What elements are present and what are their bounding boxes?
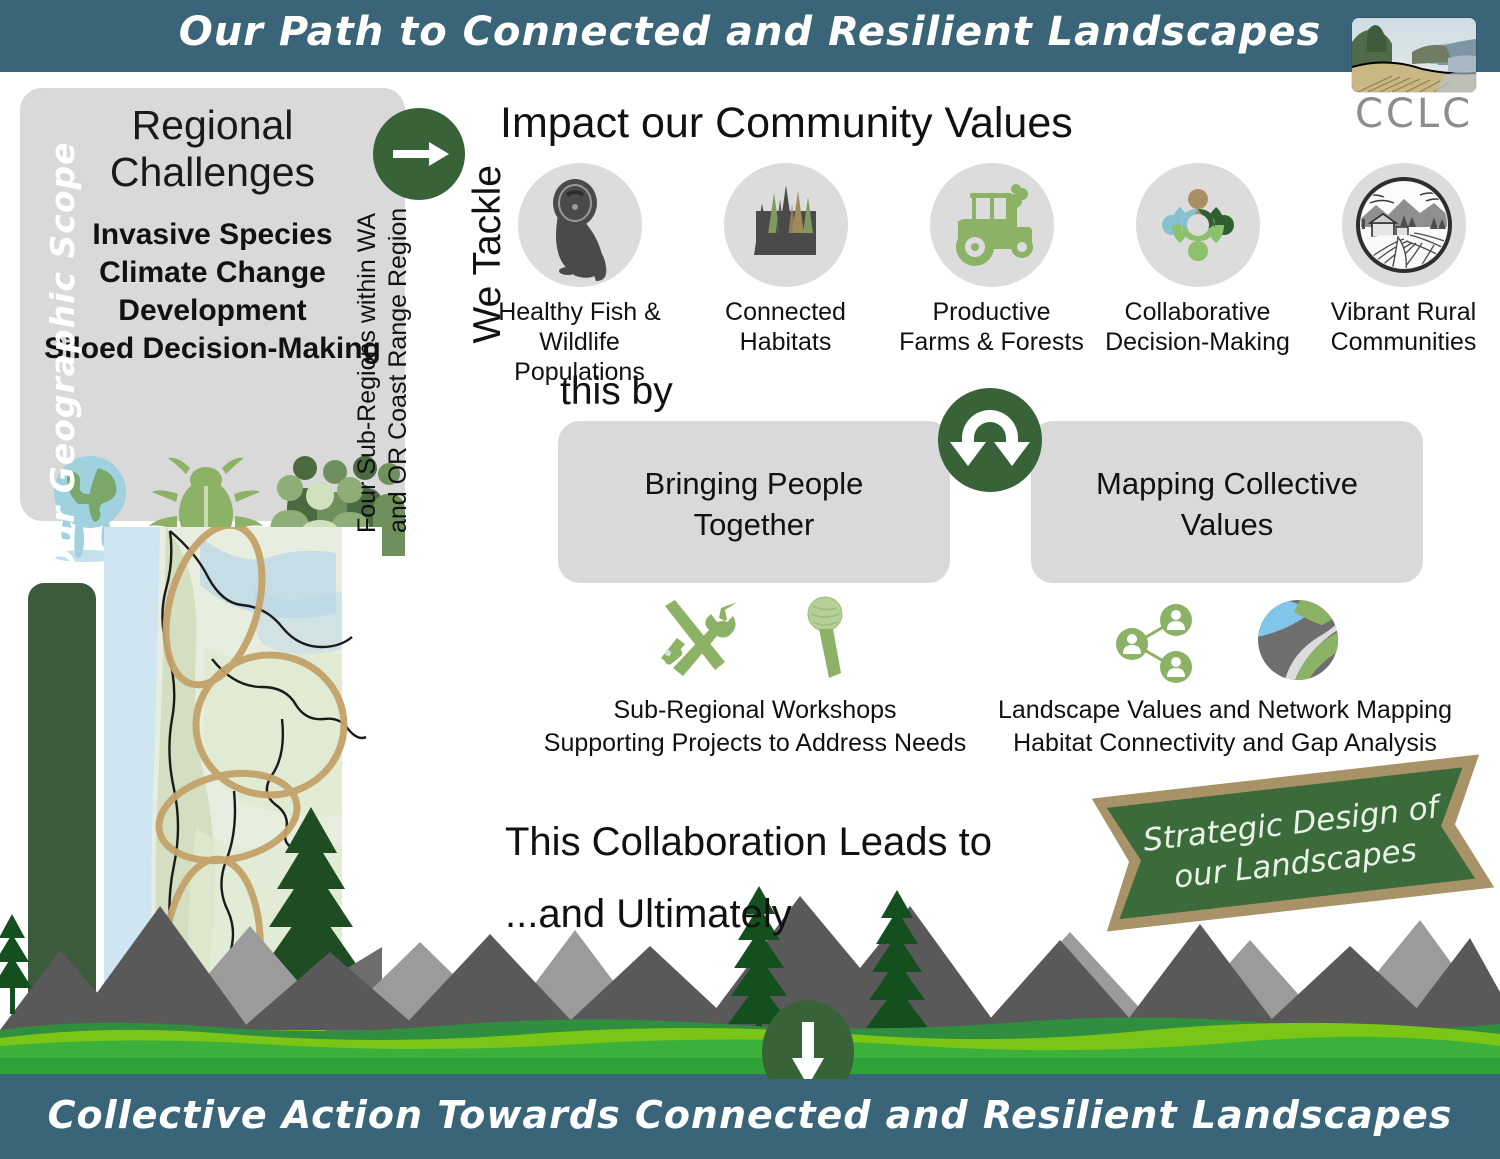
logo-wordmark: CCLC: [1352, 94, 1476, 134]
value-item-healthy-fish-wildlife: Healthy Fish & Wildlife Populations: [487, 163, 672, 387]
value-label-line1: Healthy Fish &: [487, 297, 672, 327]
approach-box-bringing-people-together: Bringing People Together: [558, 421, 950, 583]
value-item-collaborative-decision-making: Collaborative Decision-Making: [1105, 163, 1290, 357]
this-by-label: this by: [560, 370, 673, 414]
arrow-right-icon: [373, 108, 465, 200]
community-values-title: Impact our Community Values: [500, 99, 1073, 148]
value-label-line2: Habitats: [693, 327, 878, 357]
infographic-canvas: Our Path to Connected and Resilient Land…: [0, 0, 1500, 1159]
detail-line1: Sub-Regional Workshops: [500, 694, 1010, 727]
approach-left-detail-text: Sub-Regional Workshops Supporting Projec…: [500, 694, 1010, 760]
approach-box-label-line1: Mapping Collective: [1031, 463, 1423, 504]
coastal-landscape-svg: [1352, 18, 1476, 92]
approach-right-icons: [985, 592, 1465, 684]
approach-box-label: Bringing People Together: [558, 463, 950, 545]
farm-landscape-circle-icon: [1342, 163, 1466, 287]
approach-box-mapping-collective-values: Mapping Collective Values: [1031, 421, 1423, 583]
approach-right-detail-text: Landscape Values and Network Mapping Hab…: [985, 694, 1465, 760]
network-nodes-icon: [1106, 596, 1206, 684]
value-label: Connected Habitats: [693, 297, 878, 357]
and-ultimately-text: ...and Ultimately: [505, 892, 792, 937]
cclc-logo: CCLC: [1352, 18, 1476, 134]
microphone-icon: [797, 596, 859, 684]
value-item-vibrant-rural-communities: Vibrant Rural Communities: [1311, 163, 1496, 357]
value-item-productive-farms-forests: Productive Farms & Forests: [899, 163, 1084, 357]
community-values-row: Healthy Fish & Wildlife Populations: [487, 163, 1497, 363]
value-item-connected-habitats: Connected Habitats: [693, 163, 878, 357]
map-caption-line1: Four Sub-Regions within WA: [352, 203, 383, 533]
value-label-line1: Connected: [693, 297, 878, 327]
value-label-line2: Decision-Making: [1105, 327, 1290, 357]
people-circle-collaboration-icon: [1136, 163, 1260, 287]
value-label: Productive Farms & Forests: [899, 297, 1084, 357]
detail-line2: Supporting Projects to Address Needs: [500, 727, 1010, 760]
value-label: Collaborative Decision-Making: [1105, 297, 1290, 357]
map-river-circle-icon: [1252, 596, 1344, 684]
geographic-scope-label: Our Geographic Scope: [28, 135, 96, 583]
approach-detail-right: Landscape Values and Network Mapping Hab…: [985, 592, 1465, 760]
approach-detail-left: Sub-Regional Workshops Supporting Projec…: [500, 592, 1010, 760]
owl-icon: [518, 163, 642, 287]
arrow-right-circle: [373, 108, 465, 200]
conifer-forest-icon: [724, 163, 848, 287]
value-label-line1: Collaborative: [1105, 297, 1290, 327]
we-tackle-vertical-label: We Tackle: [466, 165, 510, 385]
header-bar: Our Path to Connected and Resilient Land…: [0, 0, 1500, 72]
approach-box-label-line2: Together: [558, 504, 950, 545]
detail-line1: Landscape Values and Network Mapping: [985, 694, 1465, 727]
footer-bar: Collective Action Towards Connected and …: [0, 1079, 1500, 1159]
approach-left-icons: [500, 592, 1010, 684]
value-label-line1: Vibrant Rural: [1311, 297, 1496, 327]
tools-icon: [651, 596, 751, 684]
coastal-landscape-photo: [1352, 18, 1476, 92]
approach-box-label-line2: Values: [1031, 504, 1423, 545]
map-caption-line2: and OR Coast Range Region: [383, 203, 414, 533]
map-caption: Four Sub-Regions within WA and OR Coast …: [352, 203, 416, 533]
split-down-arrow-circle: [938, 388, 1042, 492]
page-title: Our Path to Connected and Resilient Land…: [0, 9, 1500, 55]
footer-title: Collective Action Towards Connected and …: [0, 1093, 1500, 1137]
approach-box-label-line1: Bringing People: [558, 463, 950, 504]
split-down-arrow-icon: [938, 388, 1042, 492]
value-label: Vibrant Rural Communities: [1311, 297, 1496, 357]
collaboration-leads-text: This Collaboration Leads to: [505, 820, 992, 865]
value-label-line2: Farms & Forests: [899, 327, 1084, 357]
detail-line2: Habitat Connectivity and Gap Analysis: [985, 727, 1465, 760]
value-label-line1: Productive: [899, 297, 1084, 327]
approach-box-label: Mapping Collective Values: [1031, 463, 1423, 545]
value-label-line2: Communities: [1311, 327, 1496, 357]
tractor-icon: [930, 163, 1054, 287]
